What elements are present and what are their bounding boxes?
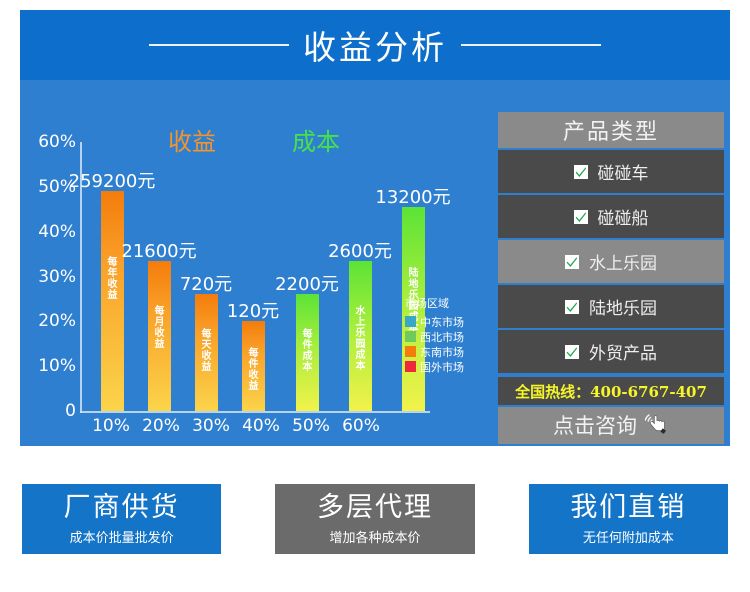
product-item-label: 碰碰车 (598, 159, 649, 184)
chart-bar: 每件成本 (296, 294, 319, 411)
bar-value-label: 2600元 (328, 237, 392, 263)
legend-title: 市场区域 (405, 295, 487, 311)
flow-arrow-icon (229, 482, 267, 556)
legend-item: 西北市场 (405, 329, 487, 344)
x-axis-tick: 50% (283, 416, 339, 436)
product-item-1[interactable]: 碰碰车 (498, 150, 724, 193)
product-item-label: 外贸产品 (589, 339, 657, 364)
legend-swatch (405, 346, 416, 357)
click-hand-icon (643, 411, 669, 440)
poster-root: 收益分析 收益 成本 010%20%30%40%50%60% 10%20%30%… (0, 0, 750, 592)
flow-step-2[interactable]: 多层代理增加各种成本价 (273, 482, 476, 556)
flow-step-3[interactable]: 我们直销无任何附加成本 (527, 482, 730, 556)
chart-legend: 市场区域 中东市场西北市场东南市场国外市场 (405, 295, 487, 374)
checkbox-checked-icon[interactable] (565, 300, 579, 314)
bar-inner-label: 每天收益 (200, 329, 213, 373)
x-axis-tick: 60% (333, 416, 389, 436)
product-item-label: 碰碰船 (598, 204, 649, 229)
legend-label: 东南市场 (420, 344, 464, 360)
product-type-panel: 产品类型 碰碰车碰碰船水上乐园陆地乐园外贸产品 全国热线：400-6767-40… (498, 112, 724, 444)
y-axis-tick: 0 (24, 401, 76, 421)
checkbox-checked-icon[interactable] (565, 255, 579, 269)
product-panel-header: 产品类型 (498, 112, 724, 148)
product-item-label: 水上乐园 (589, 249, 657, 274)
bar-inner-label: 每年收益 (106, 257, 119, 301)
bar-value-label: 21600元 (121, 237, 196, 263)
checkbox-checked-icon[interactable] (565, 345, 579, 359)
product-item-label: 陆地乐园 (589, 294, 657, 319)
flow-step-title: 厂商供货 (64, 492, 180, 524)
chart-x-axis (80, 411, 430, 413)
bar-value-label: 720元 (180, 270, 232, 296)
legend-swatch (405, 361, 416, 372)
bar-value-label: 13200元 (375, 183, 450, 209)
y-axis-tick: 10% (24, 356, 76, 376)
x-axis-tick: 20% (133, 416, 189, 436)
chart-bar: 每年收益 (101, 191, 124, 411)
legend-label: 西北市场 (420, 329, 464, 345)
flow-step-title: 我们直销 (570, 492, 686, 524)
legend-item: 东南市场 (405, 344, 487, 359)
bar-value-label: 120元 (227, 297, 279, 323)
flow-step-title: 多层代理 (317, 492, 433, 524)
product-item-4[interactable]: 陆地乐园 (498, 285, 724, 328)
chart-bar: 每月收益 (148, 261, 171, 411)
y-axis-tick: 20% (24, 311, 76, 331)
x-axis-tick: 10% (83, 416, 139, 436)
consult-button[interactable]: 点击咨询 (498, 407, 724, 444)
chart-bar: 每天收益 (195, 294, 218, 411)
chart-group-label-cost: 成本 (292, 122, 340, 157)
hotline-text: 全国热线：400-6767-407 (498, 377, 724, 404)
legend-swatch (405, 331, 416, 342)
bar-inner-label: 水上乐园成本 (354, 306, 367, 372)
bar-inner-label: 每月收益 (153, 306, 166, 350)
legend-rows: 中东市场西北市场东南市场国外市场 (405, 314, 487, 374)
bar-value-label: 2200元 (275, 270, 339, 296)
flow-step-subtitle: 无任何附加成本 (583, 527, 674, 546)
x-axis-tick: 30% (183, 416, 239, 436)
flow-arrow-icon (483, 482, 521, 556)
flow-step-1[interactable]: 厂商供货成本价批量批发价 (20, 482, 223, 556)
chart-bar: 每件收益 (242, 321, 265, 411)
flow-step-subtitle: 增加各种成本价 (329, 527, 420, 546)
header-rule-right (461, 44, 601, 46)
consult-button-label: 点击咨询 (553, 410, 637, 440)
checkbox-checked-icon[interactable] (574, 210, 588, 224)
y-axis-tick: 30% (24, 267, 76, 287)
header-band: 收益分析 (20, 10, 730, 80)
x-axis-tick: 40% (233, 416, 289, 436)
bar-inner-label: 每件成本 (301, 329, 314, 373)
legend-item: 国外市场 (405, 359, 487, 374)
supply-flow: 厂商供货成本价批量批发价多层代理增加各种成本价我们直销无任何附加成本 (20, 466, 730, 572)
legend-label: 中东市场 (420, 314, 464, 330)
product-item-3[interactable]: 水上乐园 (498, 240, 724, 283)
revenue-chart: 收益 成本 010%20%30%40%50%60% 10%20%30%40%50… (20, 80, 490, 446)
header-rule-left (149, 44, 289, 46)
legend-swatch (405, 316, 416, 327)
bar-value-label: 259200元 (69, 167, 156, 193)
chart-group-label-revenue: 收益 (168, 122, 216, 157)
checkbox-checked-icon[interactable] (574, 165, 588, 179)
product-item-2[interactable]: 碰碰船 (498, 195, 724, 238)
y-axis-tick: 40% (24, 222, 76, 242)
product-item-list: 碰碰车碰碰船水上乐园陆地乐园外贸产品 (498, 150, 724, 375)
bar-inner-label: 每件收益 (247, 348, 260, 392)
y-axis-tick: 60% (24, 132, 76, 152)
legend-item: 中东市场 (405, 314, 487, 329)
header-inner: 收益分析 (20, 21, 730, 69)
page-title: 收益分析 (303, 21, 447, 69)
analysis-panel: 收益分析 收益 成本 010%20%30%40%50%60% 10%20%30%… (20, 10, 730, 446)
product-item-5[interactable]: 外贸产品 (498, 330, 724, 373)
flow-step-subtitle: 成本价批量批发价 (70, 527, 174, 546)
chart-bar: 水上乐园成本 (349, 261, 372, 411)
legend-label: 国外市场 (420, 359, 464, 375)
chart-y-ticks: 010%20%30%40%50%60% (20, 80, 76, 446)
